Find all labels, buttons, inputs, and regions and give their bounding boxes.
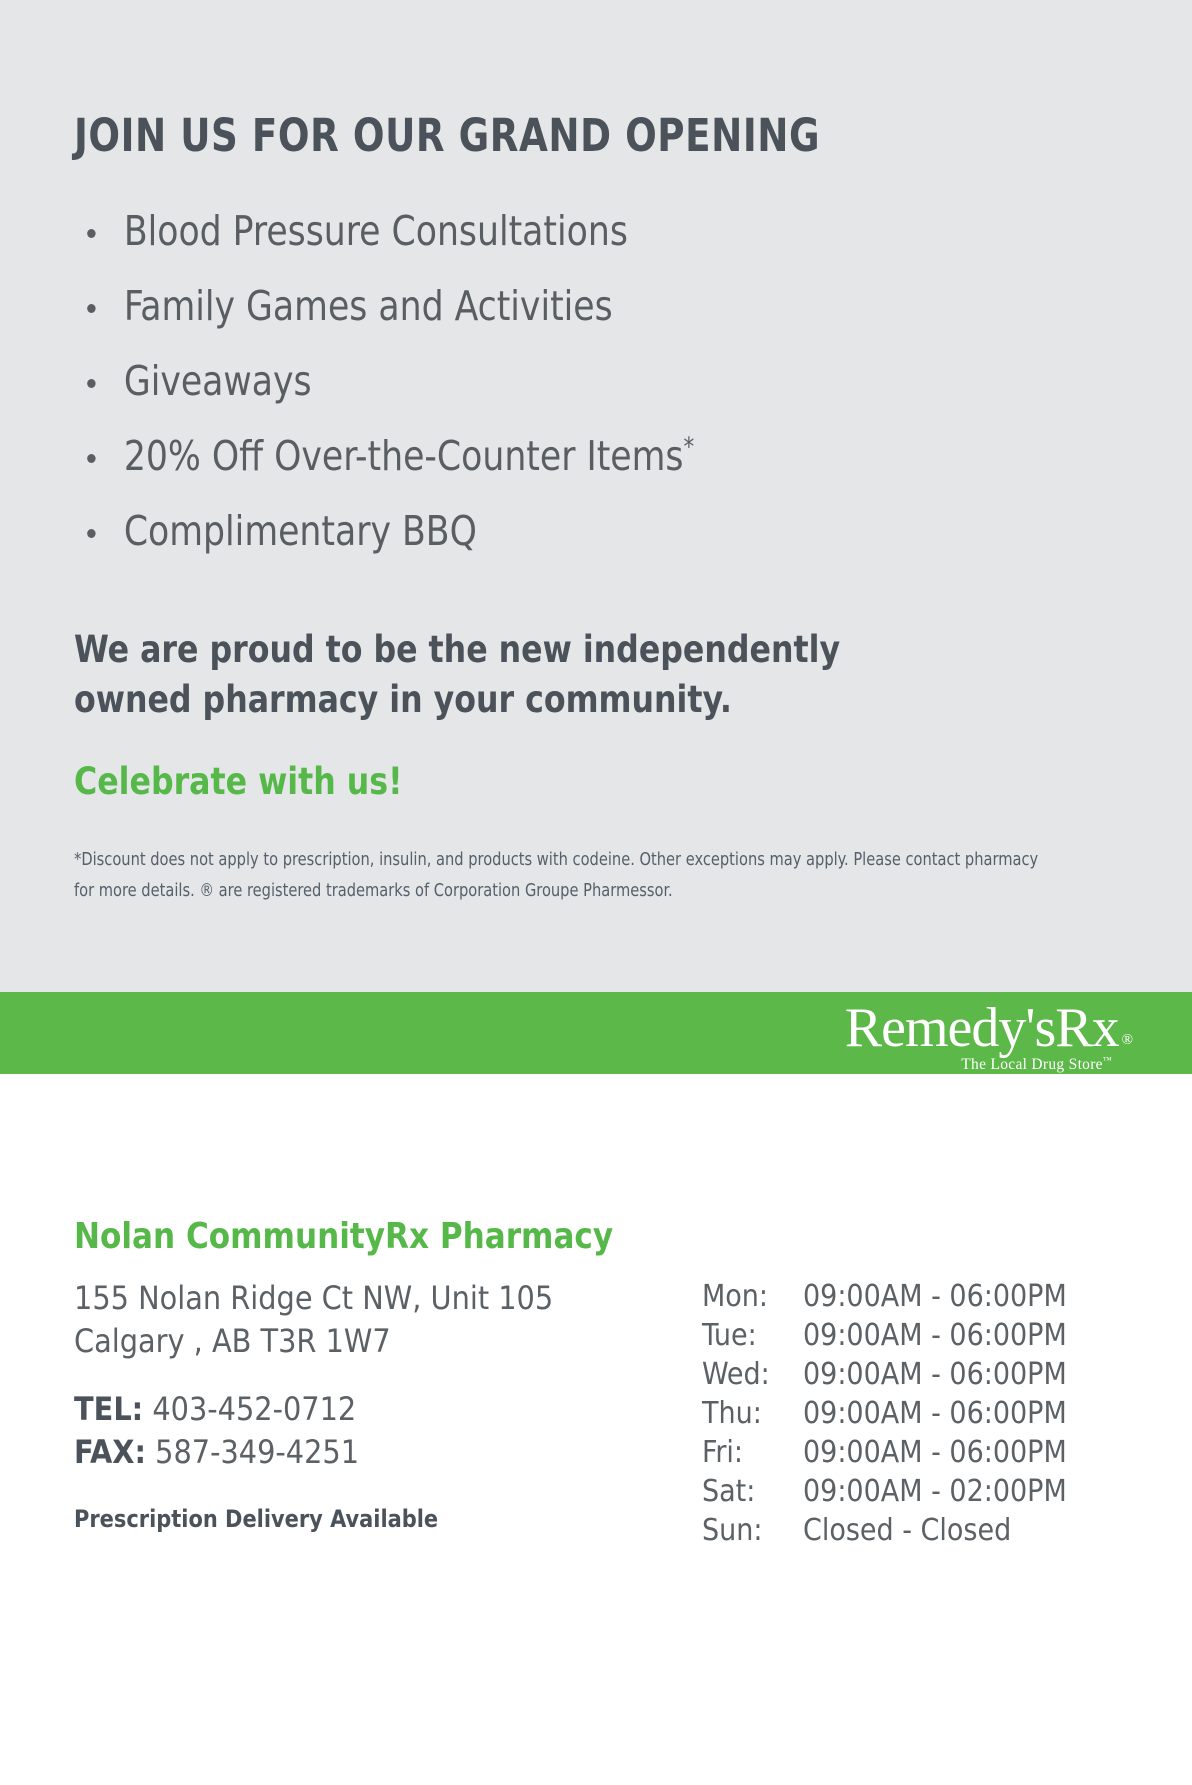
hours-time: 09:00AM - 06:00PM	[803, 1355, 1067, 1394]
address-line-2: Calgary , AB T3R 1W7	[74, 1320, 684, 1363]
pharmacy-grand-opening-flyer: JOIN US FOR OUR GRAND OPENING Blood Pres…	[0, 0, 1192, 1785]
page-title: JOIN US FOR OUR GRAND OPENING	[74, 0, 1034, 158]
celebrate-callout: Celebrate with us!	[74, 763, 1066, 800]
list-item: Complimentary BBQ	[74, 494, 1055, 569]
registered-trademark-icon: ®	[1122, 1032, 1133, 1048]
fax-value[interactable]: 587-349-4251	[155, 1433, 359, 1471]
info-columns: 155 Nolan Ridge Ct NW, Unit 105 Calgary …	[74, 1277, 1118, 1550]
fax-label: FAX:	[74, 1433, 146, 1471]
proud-statement: We are proud to be the new independently…	[74, 625, 929, 725]
list-item: Blood Pressure Consultations	[74, 194, 1055, 269]
trademark-icon: ™	[1103, 1055, 1112, 1065]
hours-day: Wed:	[702, 1355, 803, 1394]
disclaimer-text: *Discount does not apply to prescription…	[74, 845, 1045, 907]
hours-day: Thu:	[702, 1394, 803, 1433]
hours-time: Closed - Closed	[803, 1511, 1067, 1550]
table-row: Thu: 09:00AM - 06:00PM	[702, 1394, 1067, 1433]
hours-time: 09:00AM - 02:00PM	[803, 1472, 1067, 1511]
list-item: Giveaways	[74, 344, 1055, 419]
offer-footnote-marker: *	[683, 431, 694, 461]
store-info-panel: Nolan CommunityRx Pharmacy 155 Nolan Rid…	[0, 1074, 1192, 1785]
hours-day: Mon:	[702, 1277, 803, 1316]
offer-label: Family Games and Activities	[124, 282, 613, 330]
spacer	[74, 1363, 684, 1388]
offer-label: Giveaways	[124, 357, 312, 405]
promo-panel: JOIN US FOR OUR GRAND OPENING Blood Pres…	[0, 0, 1192, 992]
table-row: Fri: 09:00AM - 06:00PM	[702, 1433, 1067, 1472]
list-item: 20% Off Over-the-Counter Items*	[74, 419, 1055, 494]
contact-column: 155 Nolan Ridge Ct NW, Unit 105 Calgary …	[74, 1277, 684, 1550]
fax-row: FAX: 587-349-4251	[74, 1431, 684, 1474]
hours-day: Tue:	[702, 1316, 803, 1355]
hours-column: Mon: 09:00AM - 06:00PM Tue: 09:00AM - 06…	[684, 1277, 1118, 1550]
logo-tagline: The Local Drug Store	[961, 1056, 1103, 1073]
telephone-row: TEL: 403-452-0712	[74, 1388, 684, 1431]
address-line-1: 155 Nolan Ridge Ct NW, Unit 105	[74, 1277, 684, 1320]
brand-banner: Remedy'sRx® The Local Drug Store™	[0, 992, 1192, 1074]
table-row: Wed: 09:00AM - 06:00PM	[702, 1355, 1067, 1394]
table-row: Tue: 09:00AM - 06:00PM	[702, 1316, 1067, 1355]
hours-day: Fri:	[702, 1433, 803, 1472]
telephone-value[interactable]: 403-452-0712	[152, 1390, 356, 1428]
hours-table: Mon: 09:00AM - 06:00PM Tue: 09:00AM - 06…	[702, 1277, 1067, 1550]
hours-time: 09:00AM - 06:00PM	[803, 1394, 1067, 1433]
offer-label: Blood Pressure Consultations	[124, 207, 628, 255]
table-row: Sat: 09:00AM - 02:00PM	[702, 1472, 1067, 1511]
hours-day: Sun:	[702, 1511, 803, 1550]
hours-time: 09:00AM - 06:00PM	[803, 1277, 1067, 1316]
hours-time: 09:00AM - 06:00PM	[803, 1433, 1067, 1472]
hours-day: Sat:	[702, 1472, 803, 1511]
table-row: Mon: 09:00AM - 06:00PM	[702, 1277, 1067, 1316]
hours-time: 09:00AM - 06:00PM	[803, 1316, 1067, 1355]
offer-list: Blood Pressure Consultations Family Game…	[74, 194, 1118, 569]
remedysrx-logo: Remedy'sRx® The Local Drug Store™	[845, 1000, 1130, 1072]
telephone-label: TEL:	[74, 1390, 143, 1428]
offer-label: 20% Off Over-the-Counter Items	[124, 432, 684, 480]
logo-wordmark: Remedy'sRx	[845, 1000, 1119, 1056]
logo-wordmark-row: Remedy'sRx®	[845, 1000, 1130, 1056]
offer-label: Complimentary BBQ	[124, 507, 477, 555]
delivery-note: Prescription Delivery Available	[74, 1504, 666, 1534]
list-item: Family Games and Activities	[74, 269, 1055, 344]
table-row: Sun: Closed - Closed	[702, 1511, 1067, 1550]
store-name: Nolan CommunityRx Pharmacy	[74, 1074, 1076, 1255]
